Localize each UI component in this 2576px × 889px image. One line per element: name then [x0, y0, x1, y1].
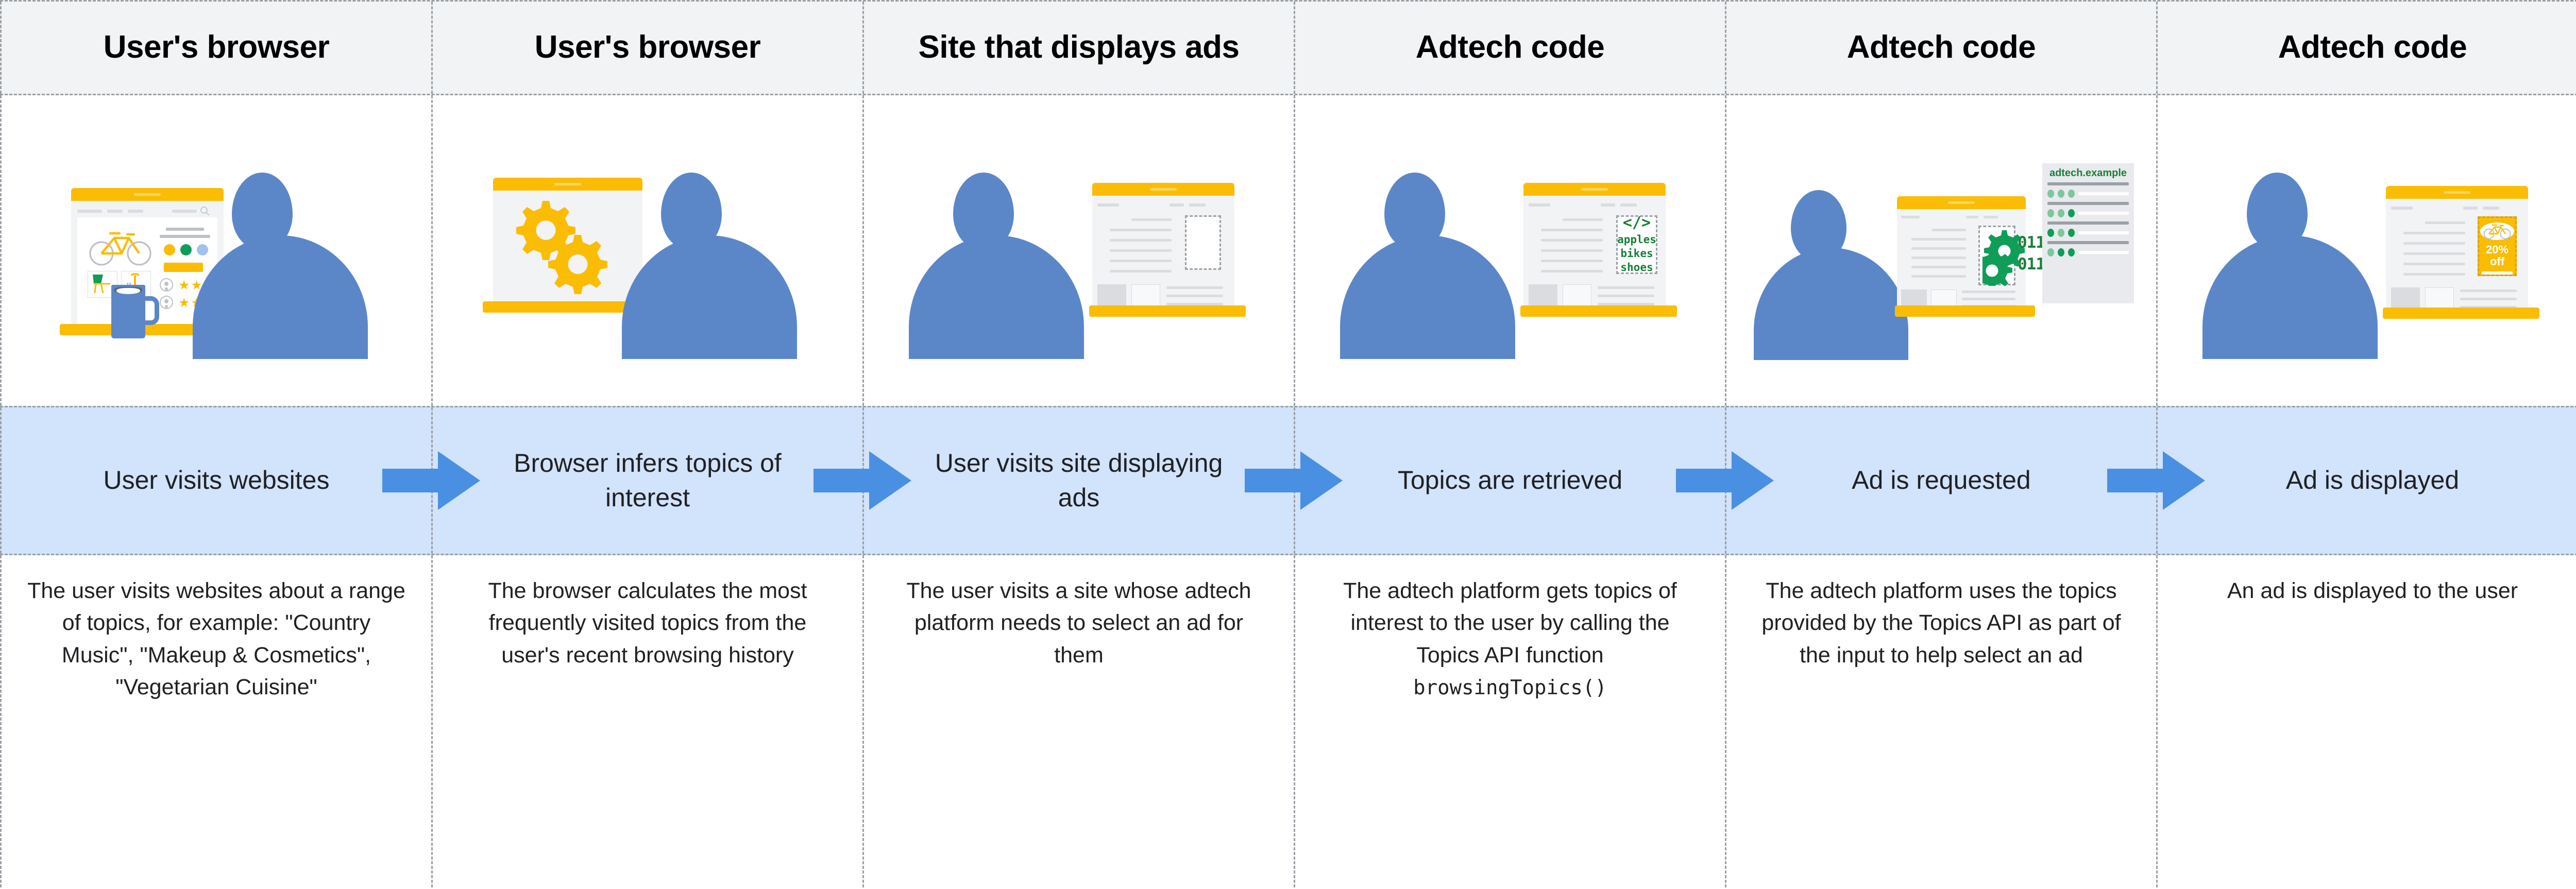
browser-titlebar [493, 178, 642, 191]
color-swatch-green[interactable] [180, 244, 192, 255]
body-line [2403, 273, 2465, 276]
body-line [1962, 290, 2015, 293]
column-header-row: User's browser User's browser Site that … [0, 0, 2576, 95]
step-description: The adtech platform uses the topics prov… [1726, 575, 2156, 671]
description-cell-4: The adtech platform gets topics of inter… [1294, 555, 1726, 887]
header-cell-5: Adtech code [1725, 2, 2158, 94]
reviewer-avatar [160, 278, 173, 292]
step-description-text: An ad is displayed to the user [2227, 578, 2518, 603]
description-row: The user visits websites about a range o… [0, 555, 2576, 887]
header-cell-3: Site that displays ads [862, 2, 1295, 94]
browser-window-site [1092, 183, 1234, 317]
column-title: User's browser [535, 30, 761, 65]
body-line [2403, 252, 2465, 255]
caption-cell-6: Ad is displayed [2156, 407, 2576, 554]
body-line [1541, 249, 1603, 252]
topics-code-block: </> apples bikes shoes [1616, 215, 1657, 274]
header-cell-2: User's browser [431, 2, 864, 94]
bicycle-icon [2483, 223, 2511, 240]
status-dot [2047, 229, 2054, 237]
body-line [1110, 260, 1172, 262]
column-title: Adtech code [1416, 30, 1605, 65]
browser-stand [1895, 305, 2035, 317]
ad-image-circle [2480, 223, 2514, 240]
topic-word-bikes: bikes [1620, 247, 1653, 260]
header-cell-4: Adtech code [1294, 2, 1726, 94]
browser-titlebar [2386, 186, 2528, 199]
body-line [2403, 242, 2465, 245]
browser-stand [1089, 305, 1246, 317]
step-description-text: The browser calculates the most frequent… [488, 578, 807, 668]
caption-cell-1: User visits websites [0, 407, 433, 554]
illustration-cell-1: ★★★★ ★★★ [0, 95, 433, 406]
panel-divider [2047, 221, 2129, 225]
description-cell-2: The browser calculates the most frequent… [431, 555, 864, 887]
row-label-stub [2078, 212, 2129, 215]
caption-cell-3: User visits site displaying ads [862, 407, 1295, 554]
body-line [1541, 260, 1603, 262]
body-line [1911, 247, 1966, 250]
body-line [1598, 303, 1654, 305]
browser-titlebar [1092, 183, 1234, 196]
ad-discount-suffix: off [2490, 255, 2504, 268]
illustration-browser-gears [457, 143, 838, 359]
adtech-row [2047, 188, 2129, 199]
row-label-stub [2078, 192, 2129, 195]
person-silhouette [909, 173, 1084, 359]
step-description: The user visits websites about a range o… [2, 575, 431, 703]
nav-line [1170, 203, 1184, 207]
body-line [2403, 232, 2465, 234]
step-description: The adtech platform gets topics of inter… [1295, 575, 1725, 703]
status-dot [2068, 248, 2075, 257]
status-dot [2058, 190, 2064, 198]
step-caption: Ad is displayed [2224, 463, 2521, 498]
step-description: An ad is displayed to the user [2202, 575, 2543, 607]
row-label-stub [2078, 251, 2129, 254]
body-line [1166, 303, 1223, 305]
displayed-ad[interactable]: 20% off [2478, 216, 2517, 276]
nav-line [2483, 207, 2499, 210]
row-label-stub [2078, 231, 2129, 234]
step-caption: Browser infers topics of interest [433, 446, 862, 516]
illustration-site-empty-ad [888, 143, 1269, 359]
caption-cell-5: Ad is requested [1725, 407, 2158, 554]
column-title: Site that displays ads [919, 30, 1240, 65]
browser-viewport [1092, 196, 1234, 311]
browser-stand [2383, 307, 2539, 319]
step-caption: Topics are retrieved [1336, 463, 1684, 498]
nav-line [2463, 207, 2478, 210]
ad-discount-percent: 20% [2486, 243, 2509, 256]
status-dot [2068, 229, 2075, 237]
nav-line [1189, 203, 1206, 207]
browser-stand [1520, 305, 1677, 317]
browser-titlebar [1523, 183, 1666, 196]
body-line [1110, 229, 1172, 231]
person-body [622, 235, 797, 359]
panel-divider [2047, 182, 2129, 185]
body-line [1541, 239, 1603, 242]
illustration-row: ★★★★ ★★★ [0, 95, 2576, 406]
column-title: Adtech code [2278, 30, 2467, 65]
description-cell-6: An ad is displayed to the user [2156, 555, 2576, 887]
nav-line [107, 210, 123, 213]
person-body [2202, 235, 2378, 359]
coffee-mug [111, 285, 145, 338]
green-gears-icon [1982, 229, 2044, 286]
status-dot [2058, 229, 2064, 237]
body-line [1110, 239, 1172, 242]
reviewer-avatar [160, 296, 173, 309]
body-line [1932, 229, 1966, 231]
illustration-cell-4: </> apples bikes shoes [1294, 95, 1726, 406]
nav-line [1901, 216, 1920, 218]
step-caption: User visits websites [42, 463, 392, 498]
browser-viewport: 20% off [2386, 199, 2528, 313]
body-line [1110, 249, 1172, 252]
body-line [1911, 238, 1966, 241]
body-line [1911, 257, 1966, 259]
browser-window-adtech: </> apples bikes shoes [1523, 183, 1666, 317]
bicycle-icon [88, 227, 155, 267]
nav-line [1966, 216, 1978, 218]
description-cell-1: The user visits websites about a range o… [0, 555, 433, 887]
body-line [2460, 289, 2517, 292]
nav-line [1529, 203, 1550, 207]
body-line [1598, 295, 1654, 297]
person-body [1340, 235, 1515, 359]
ad-cta-button[interactable] [2482, 271, 2513, 275]
body-line [2425, 221, 2465, 224]
illustration-cell-5: 0110 0111 adtech.example [1725, 95, 2158, 406]
person-body [193, 235, 368, 359]
adtech-server-panel: adtech.example [2042, 163, 2134, 303]
person-body [1754, 248, 1908, 360]
body-line [2460, 298, 2517, 300]
panel-divider [2047, 241, 2129, 244]
status-dot [2068, 209, 2075, 217]
person-body [909, 235, 1084, 359]
browser-window-gears [493, 178, 642, 313]
status-dot [2058, 248, 2064, 257]
step-description-text: The user visits a site whose adtech plat… [906, 578, 1251, 668]
header-cell-6: Adtech code [2156, 2, 2576, 94]
nav-line [1097, 203, 1119, 207]
adtech-server-title: adtech.example [2047, 167, 2129, 179]
person-silhouette [193, 173, 368, 359]
adtech-row [2047, 208, 2129, 219]
nav-line [1620, 203, 1637, 207]
status-dot [2047, 209, 2054, 217]
step-caption: Ad is requested [1790, 463, 2092, 498]
step-description-text: The adtech platform uses the topics prov… [1761, 578, 2121, 668]
nav-line [77, 210, 102, 213]
step-description-text: The user visits websites about a range o… [27, 578, 405, 699]
body-line [1541, 229, 1603, 231]
illustration-cell-2 [431, 95, 864, 406]
body-line [1166, 286, 1223, 289]
color-swatch-yellow[interactable] [164, 244, 175, 255]
browser-titlebar [1897, 196, 2026, 209]
illustration-ad-request: 0110 0111 adtech.example [1751, 143, 2132, 359]
status-dot [2047, 190, 2054, 198]
illustration-ad-displayed: 20% off [2182, 143, 2563, 359]
body-line [1166, 295, 1223, 297]
adtech-row [2047, 247, 2129, 258]
browser-viewport [493, 191, 642, 306]
topic-word-apples: apples [1617, 233, 1656, 246]
body-line [1541, 270, 1603, 272]
body-line [1110, 270, 1172, 272]
step-description: The browser calculates the most frequent… [433, 575, 862, 671]
caption-cell-2: Browser infers topics of interest [431, 407, 864, 554]
column-title: Adtech code [1847, 30, 2036, 65]
body-line [1563, 218, 1603, 221]
nav-line [1984, 216, 1998, 218]
body-line [1131, 218, 1172, 221]
step-caption: User visits site displaying ads [864, 446, 1294, 516]
empty-ad-slot [1185, 215, 1221, 270]
step-description-text: The adtech platform gets topics of inter… [1343, 578, 1677, 668]
topics-api-flow-diagram: User's browser User's browser Site that … [0, 0, 2576, 889]
nav-line [2391, 207, 2413, 210]
description-cell-5: The adtech platform uses the topics prov… [1725, 555, 2158, 887]
caption-band: User visits websites Browser infers topi… [0, 406, 2576, 555]
browser-viewport: </> apples bikes shoes [1523, 196, 1666, 311]
person-silhouette [2202, 173, 2378, 359]
body-line [1598, 286, 1654, 289]
status-dot [2058, 209, 2064, 217]
person-silhouette [1754, 190, 1908, 360]
browser-window-with-ad: 20% off [2386, 186, 2528, 319]
illustration-topics-code: </> apples bikes shoes [1319, 143, 1701, 359]
body-line [2403, 263, 2465, 265]
body-line [1911, 266, 1966, 268]
header-cell-1: User's browser [0, 2, 433, 94]
gears-icon [512, 198, 625, 301]
caption-cell-4: Topics are retrieved [1294, 407, 1726, 554]
illustration-cell-6: 20% off [2156, 95, 2576, 406]
person-silhouette [1340, 173, 1515, 359]
body-line [1911, 275, 1966, 278]
illustration-person-shopping: ★★★★ ★★★ [26, 143, 407, 359]
illustration-cell-3 [862, 95, 1295, 406]
description-cell-3: The user visits a site whose adtech plat… [862, 555, 1295, 887]
body-line [1962, 298, 2015, 300]
api-function-name: browsingTopics() [1413, 676, 1607, 699]
ad-discount-text: 20% off [2486, 244, 2509, 267]
topic-word-shoes: shoes [1620, 261, 1653, 273]
step-description: The user visits a site whose adtech plat… [864, 575, 1294, 671]
person-silhouette [622, 173, 797, 359]
nav-line [128, 210, 143, 213]
status-dot [2047, 248, 2054, 257]
panel-divider [2047, 202, 2129, 205]
adtech-row [2047, 227, 2129, 238]
nav-line [1601, 203, 1615, 207]
status-dot [2068, 190, 2075, 198]
code-tag-icon: </> [1623, 215, 1651, 231]
column-title: User's browser [104, 30, 330, 65]
